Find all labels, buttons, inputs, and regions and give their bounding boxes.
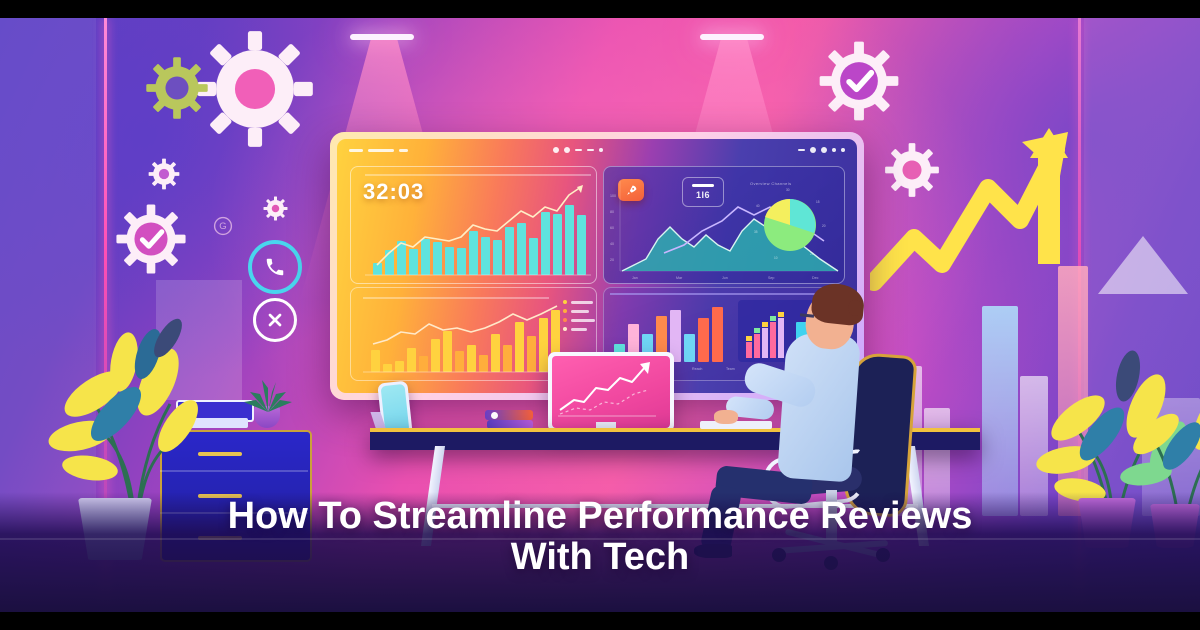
plant-left-small [238, 374, 298, 412]
svg-text:80: 80 [610, 210, 614, 214]
revenue-chart [351, 167, 596, 283]
analytics-chart: 1008060 4020 JanMarJun SepDec 301520 251… [604, 167, 844, 283]
svg-text:40: 40 [610, 242, 614, 246]
svg-text:Mar: Mar [676, 276, 683, 280]
secondary-monitor-screen [552, 356, 670, 428]
svg-text:Team: Team [726, 367, 735, 371]
svg-text:15: 15 [816, 200, 820, 204]
revenue-trend-panel[interactable]: 32:03 [350, 166, 597, 284]
svg-text:35: 35 [754, 230, 758, 234]
ceiling-lamp-right [700, 34, 764, 40]
gear-large-white-icon [196, 30, 314, 148]
svg-text:G: G [219, 221, 226, 232]
bg-triangle [1098, 236, 1188, 294]
svg-text:20: 20 [822, 224, 826, 228]
svg-text:25: 25 [810, 252, 814, 256]
gear-check-white-icon [115, 203, 187, 275]
letterbox-top [0, 0, 1200, 18]
page-title: How To Streamline Performance Reviews Wi… [0, 496, 1200, 578]
analytics-panel[interactable]: 1I6 Overview Channels 1008060 4020 [603, 166, 845, 284]
plant-left-large [36, 286, 236, 526]
ceiling-lamp-left [350, 34, 414, 40]
gear-small-white-icon [148, 158, 180, 190]
dashboard-toolbar[interactable] [337, 139, 857, 161]
toolbar-icon-group-right[interactable] [798, 147, 845, 153]
svg-text:40: 40 [756, 204, 760, 208]
secondary-monitor[interactable] [548, 352, 674, 432]
close-x-icon [253, 298, 297, 342]
keyboard[interactable] [700, 421, 772, 429]
svg-text:Reach: Reach [692, 367, 702, 371]
person-hair-bun [848, 300, 862, 316]
letterbox-bottom [0, 612, 1200, 630]
gear-tiny-white-icon [263, 196, 288, 221]
legend-item-3 [563, 318, 595, 322]
person-torso [777, 332, 861, 483]
bg-bar-3 [982, 306, 1018, 516]
poster-canvas: G [0, 0, 1200, 630]
gear-outline-icon: G [209, 212, 237, 240]
toolbar-icon-group-left[interactable] [553, 147, 603, 153]
book-dot [491, 412, 498, 419]
title-line-1: How To Streamline Performance Reviews [0, 496, 1200, 537]
legend-item-2 [563, 309, 589, 313]
svg-text:Jun: Jun [722, 276, 728, 280]
svg-text:20: 20 [610, 258, 614, 262]
svg-text:Sep: Sep [768, 276, 774, 280]
gear-check-right-icon [818, 40, 900, 122]
svg-text:Dec: Dec [812, 276, 819, 280]
person-hand [714, 410, 738, 424]
legend-item-4 [563, 327, 587, 331]
svg-text:60: 60 [610, 226, 614, 230]
svg-text:100: 100 [610, 194, 616, 198]
growth-arrow-icon [870, 114, 1100, 304]
toolbar-logo-dashes [349, 149, 408, 152]
phone-call-icon [248, 240, 302, 294]
legend-item-1 [563, 300, 593, 304]
svg-text:10: 10 [774, 256, 778, 260]
svg-text:30: 30 [786, 188, 790, 192]
title-line-2: With Tech [0, 537, 1200, 578]
svg-text:Jan: Jan [632, 276, 638, 280]
gear-olive-icon [145, 56, 209, 120]
